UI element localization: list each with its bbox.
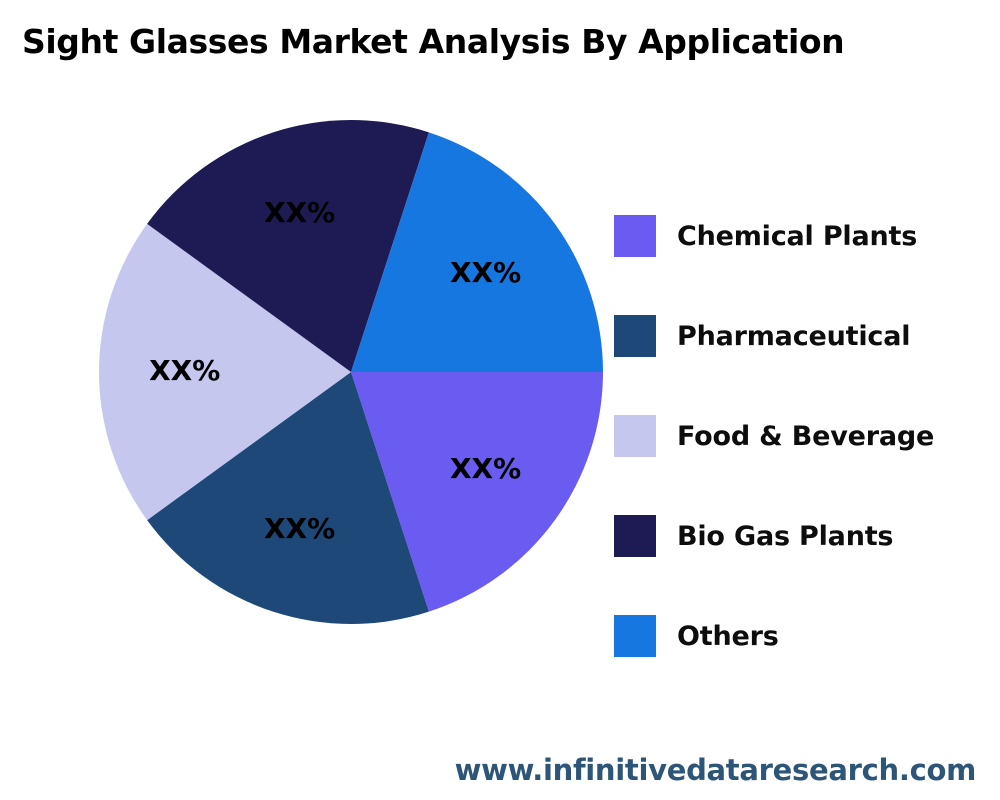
pie-slice-label: XX% — [264, 196, 335, 229]
legend: Chemical Plants Pharmaceutical Food & Be… — [614, 215, 994, 657]
legend-swatch-icon — [614, 415, 656, 457]
pie-slice-label: XX% — [149, 354, 220, 387]
legend-item-label: Food & Beverage — [677, 421, 934, 452]
legend-swatch-icon — [614, 315, 656, 357]
legend-swatch-icon — [614, 215, 656, 257]
legend-item-label: Others — [677, 621, 779, 652]
legend-item-pharmaceutical[interactable]: Pharmaceutical — [614, 315, 994, 357]
pie-slice-label: XX% — [450, 256, 521, 289]
legend-item-label: Pharmaceutical — [677, 321, 910, 352]
footer-website-url[interactable]: www.infinitivedataresearch.com — [455, 753, 976, 787]
chart-area: XX%XX%XX%XX%XX% Chemical Plants Pharmace… — [0, 95, 1000, 655]
pie-slice-label: XX% — [450, 452, 521, 485]
page-title: Sight Glasses Market Analysis By Applica… — [22, 22, 962, 61]
legend-item-food-beverage[interactable]: Food & Beverage — [614, 415, 994, 457]
legend-item-label: Bio Gas Plants — [677, 521, 893, 552]
legend-item-bio-gas-plants[interactable]: Bio Gas Plants — [614, 515, 994, 557]
legend-item-chemical-plants[interactable]: Chemical Plants — [614, 215, 994, 257]
pie-chart: XX%XX%XX%XX%XX% — [96, 117, 606, 627]
legend-swatch-icon — [614, 615, 656, 657]
legend-item-label: Chemical Plants — [677, 221, 917, 252]
pie-slice-label: XX% — [264, 512, 335, 545]
legend-item-others[interactable]: Others — [614, 615, 994, 657]
legend-swatch-icon — [614, 515, 656, 557]
